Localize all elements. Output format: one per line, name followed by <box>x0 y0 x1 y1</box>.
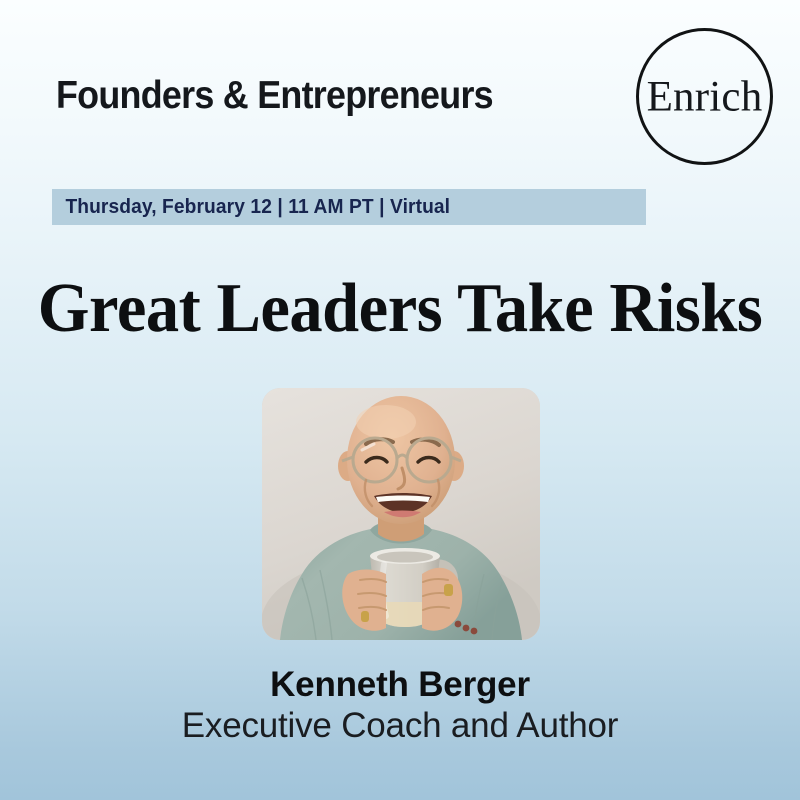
event-details-text: Thursday, February 12 | 11 AM PT | Virtu… <box>52 196 450 219</box>
speaker-photo <box>262 388 540 640</box>
speaker-portrait-illustration <box>262 388 540 640</box>
page-title: Great Leaders Take Risks <box>20 272 780 346</box>
brand-name: Enrich <box>647 72 763 121</box>
brand-logo: Enrich <box>636 28 773 165</box>
speaker-name: Kenneth Berger <box>0 664 800 706</box>
speaker-title: Executive Coach and Author <box>0 706 800 747</box>
speaker-credit: Kenneth Berger Executive Coach and Autho… <box>0 664 800 747</box>
event-details-banner: Thursday, February 12 | 11 AM PT | Virtu… <box>52 189 646 225</box>
poster-eyebrow: Founders & Entrepreneurs <box>56 74 493 118</box>
event-poster: Founders & Entrepreneurs Enrich Thursday… <box>0 0 800 800</box>
